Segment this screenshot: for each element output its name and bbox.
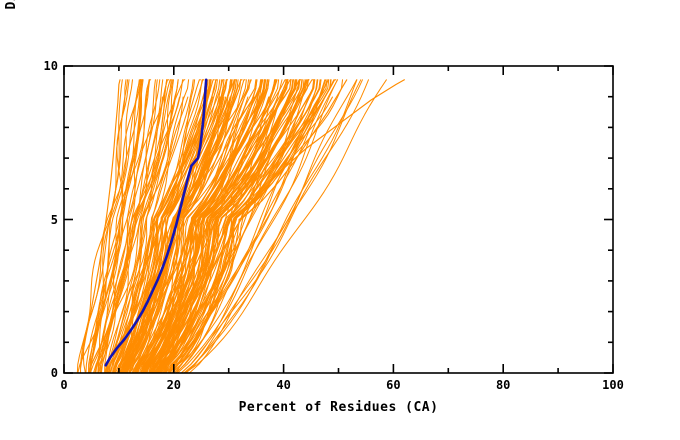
- x-tick-label-0: 0: [60, 378, 67, 392]
- y-tick-label-5: 5: [51, 213, 58, 227]
- x-tick-label-100: 100: [602, 378, 624, 392]
- x-axis-label: Percent of Residues (CA): [64, 400, 613, 415]
- plot-area: [0, 0, 680, 440]
- y-axis-label: Distance Cutoff, A: [4, 0, 26, 88]
- x-tick-label-20: 20: [167, 378, 181, 392]
- x-tick-label-80: 80: [496, 378, 510, 392]
- x-tick-label-40: 40: [276, 378, 290, 392]
- y-tick-label-0: 0: [51, 366, 58, 380]
- x-tick-label-60: 60: [386, 378, 400, 392]
- chart-page: T0963 Percent of Residues (CA) Distance …: [0, 0, 680, 440]
- y-tick-label-10: 10: [44, 59, 58, 73]
